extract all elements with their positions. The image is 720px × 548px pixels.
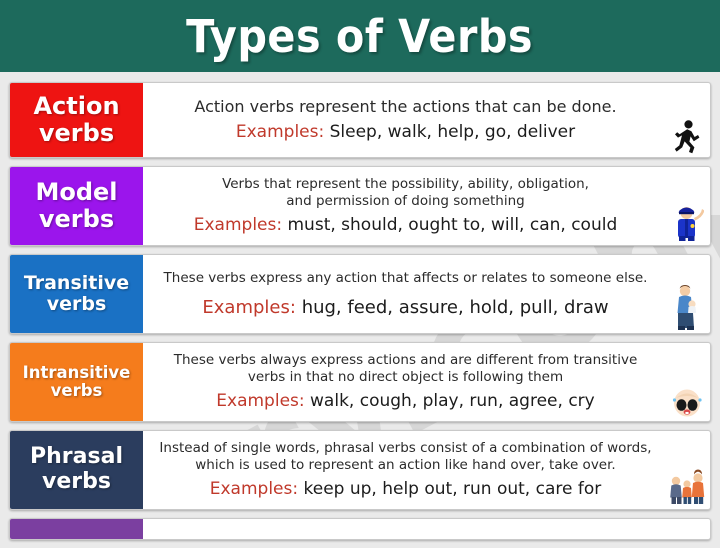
examples-label: Examples: <box>236 122 324 142</box>
verb-description: Action verbs represent the actions that … <box>153 97 658 117</box>
examples-values: hug, feed, assure, hold, pull, draw <box>302 297 609 318</box>
verb-row-phrasal-verbs[interactable]: Phrasal verbs Instead of single words, p… <box>9 430 711 510</box>
verb-label-line2: verbs <box>42 470 111 495</box>
examples-label: Examples: <box>216 391 304 411</box>
examples-values: walk, cough, play, run, agree, cry <box>310 391 595 411</box>
verb-examples: Examples: walk, cough, play, run, agree,… <box>153 391 658 411</box>
verb-label-line2: verbs <box>51 382 103 400</box>
verb-body-model-verbs: Verbs that represent the possibility, ab… <box>143 167 664 245</box>
verb-row-model-verbs[interactable]: Model verbs Verbs that represent the pos… <box>9 166 711 246</box>
police-officer-icon <box>664 202 710 245</box>
verb-label-line1: Intransitive <box>23 364 131 382</box>
verb-row-intransitive-verbs[interactable]: Intransitive verbs These verbs always ex… <box>9 342 711 422</box>
verb-description-line2: and permission of doing something <box>153 193 658 210</box>
examples-values: keep up, help out, run out, care for <box>304 479 602 499</box>
verb-label-line1: Phrasal <box>30 445 123 470</box>
verb-body-action-verbs: Action verbs represent the actions that … <box>143 83 664 157</box>
verb-row-transitive-verbs[interactable]: Transitive verbs These verbs express any… <box>9 254 711 334</box>
crying-baby-icon <box>664 388 710 421</box>
family-group-icon <box>664 468 710 509</box>
verb-types-list: Action verbs Action verbs represent the … <box>0 72 720 540</box>
verb-body-next-partial <box>143 519 710 539</box>
header-banner: Types of Verbs <box>0 0 720 72</box>
verb-label-phrasal-verbs: Phrasal verbs <box>10 431 143 509</box>
verb-label-line1: Model <box>35 179 117 206</box>
examples-label: Examples: <box>210 479 298 499</box>
verb-label-model-verbs: Model verbs <box>10 167 143 245</box>
verb-label-action-verbs: Action verbs <box>10 83 143 157</box>
verb-description-line2: which is used to represent an action lik… <box>153 457 658 474</box>
infographic-page: ry.com Types of Verbs Action verbs Actio… <box>0 0 720 548</box>
verb-description: Instead of single words, phrasal verbs c… <box>153 440 658 457</box>
walking-person-icon <box>664 120 710 157</box>
verb-label-line1: Action <box>33 93 119 120</box>
verb-label-transitive-verbs: Transitive verbs <box>10 255 143 333</box>
verb-label-line2: verbs <box>39 206 114 233</box>
person-holding-baby-icon <box>664 284 710 333</box>
verb-label-line2: verbs <box>47 294 107 315</box>
verb-label-line2: verbs <box>39 120 114 147</box>
examples-label: Examples: <box>194 215 282 235</box>
verb-examples: Examples: must, should, ought to, will, … <box>153 215 658 235</box>
verb-row-next-partial[interactable] <box>9 518 711 540</box>
verb-body-phrasal-verbs: Instead of single words, phrasal verbs c… <box>143 431 664 509</box>
verb-body-intransitive-verbs: These verbs always express actions and a… <box>143 343 664 421</box>
verb-label-next-partial <box>10 519 143 539</box>
examples-values: Sleep, walk, help, go, deliver <box>330 122 576 142</box>
verb-description: These verbs always express actions and a… <box>153 352 658 369</box>
verb-body-transitive-verbs: These verbs express any action that affe… <box>143 255 664 333</box>
examples-values: must, should, ought to, will, can, could <box>288 215 618 235</box>
verb-description-line2: verbs in that no direct object is follow… <box>153 369 658 386</box>
verb-examples: Examples: hug, feed, assure, hold, pull,… <box>153 297 658 319</box>
verb-row-action-verbs[interactable]: Action verbs Action verbs represent the … <box>9 82 711 158</box>
verb-description: Verbs that represent the possibility, ab… <box>153 176 658 193</box>
verb-examples: Examples: Sleep, walk, help, go, deliver <box>153 122 658 142</box>
page-title: Types of Verbs <box>187 14 534 59</box>
verb-examples: Examples: keep up, help out, run out, ca… <box>153 479 658 499</box>
verb-label-line1: Transitive <box>24 273 129 294</box>
verb-description: These verbs express any action that affe… <box>153 270 658 287</box>
examples-label: Examples: <box>202 297 296 318</box>
verb-label-intransitive-verbs: Intransitive verbs <box>10 343 143 421</box>
